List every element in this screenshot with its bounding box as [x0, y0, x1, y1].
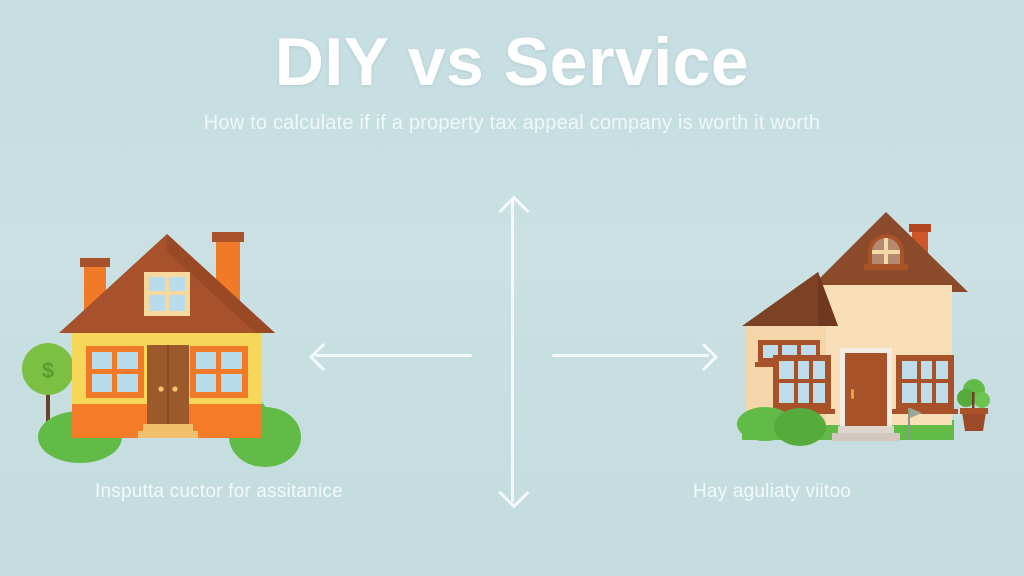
vertical-divider-line [511, 198, 514, 502]
right-panel-caption: Hay aguliaty viitoo [693, 480, 851, 504]
arrow-right-line [552, 354, 709, 357]
left-panel-caption: Insputta cuctor for assitanice [95, 480, 343, 504]
arrow-left-line [315, 354, 472, 357]
page-subtitle: How to calculate if if a property tax ap… [0, 110, 1024, 136]
header: DIY vs Service How to calculate if if a … [0, 22, 1024, 136]
infographic-canvas: DIY vs Service How to calculate if if a … [0, 0, 1024, 576]
page-title: DIY vs Service [0, 22, 1024, 102]
